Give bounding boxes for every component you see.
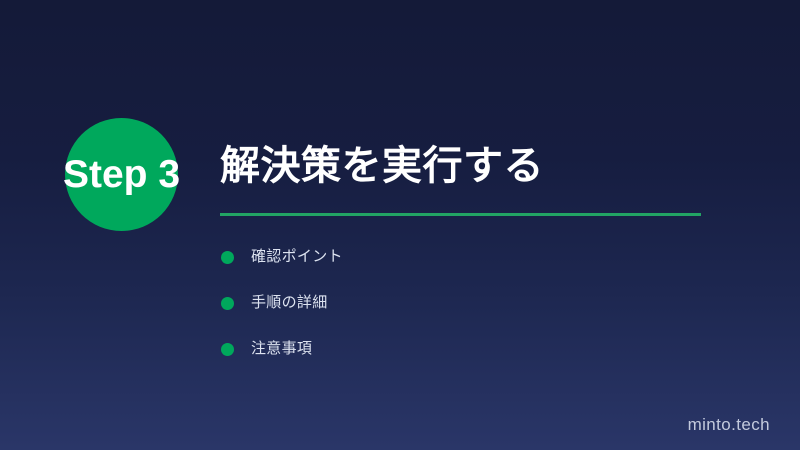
list-item-label: 確認ポイント <box>251 247 343 267</box>
list-item: 注意事項 <box>221 326 701 372</box>
title-block: 解決策を実行する <box>220 141 544 191</box>
brand-watermark: minto.tech <box>688 414 770 436</box>
list-item-label: 注意事項 <box>251 339 312 359</box>
slide-title: 解決策を実行する <box>220 141 544 191</box>
bullet-list: 確認ポイント 手順の詳細 注意事項 <box>221 234 701 372</box>
bullet-dot-icon <box>221 343 234 356</box>
step-badge: Step 3 <box>65 118 178 231</box>
list-item: 手順の詳細 <box>221 280 701 326</box>
step-number-label: Step 3 <box>40 153 203 197</box>
bullet-dot-icon <box>221 297 234 310</box>
presentation-slide: Step 3 解決策を実行する 確認ポイント 手順の詳細 注意事項 minto.… <box>0 0 800 450</box>
list-item: 確認ポイント <box>221 234 701 280</box>
bullet-dot-icon <box>221 251 234 264</box>
list-item-label: 手順の詳細 <box>251 293 328 313</box>
title-underline-rule <box>220 213 701 216</box>
